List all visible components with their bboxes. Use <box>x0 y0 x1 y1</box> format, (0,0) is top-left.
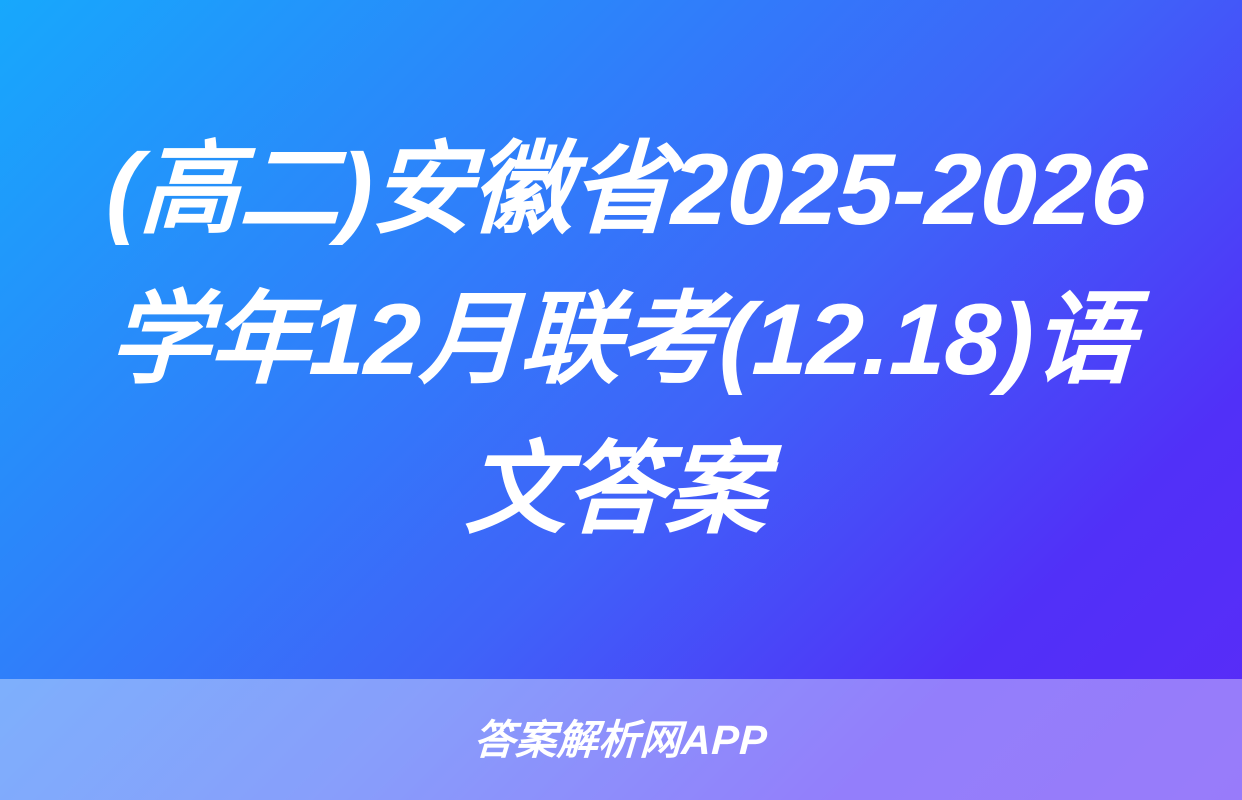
watermark-band: 答案解析网APP <box>0 679 1242 800</box>
page-title: (高二)安徽省2025-2026学年12月联考(12.18)语文答案 <box>70 115 1172 565</box>
app-watermark-label: 答案解析网APP <box>473 720 768 761</box>
title-container: (高二)安徽省2025-2026学年12月联考(12.18)语文答案 <box>0 0 1242 679</box>
promo-poster: (高二)安徽省2025-2026学年12月联考(12.18)语文答案 答案解析网… <box>0 0 1242 800</box>
